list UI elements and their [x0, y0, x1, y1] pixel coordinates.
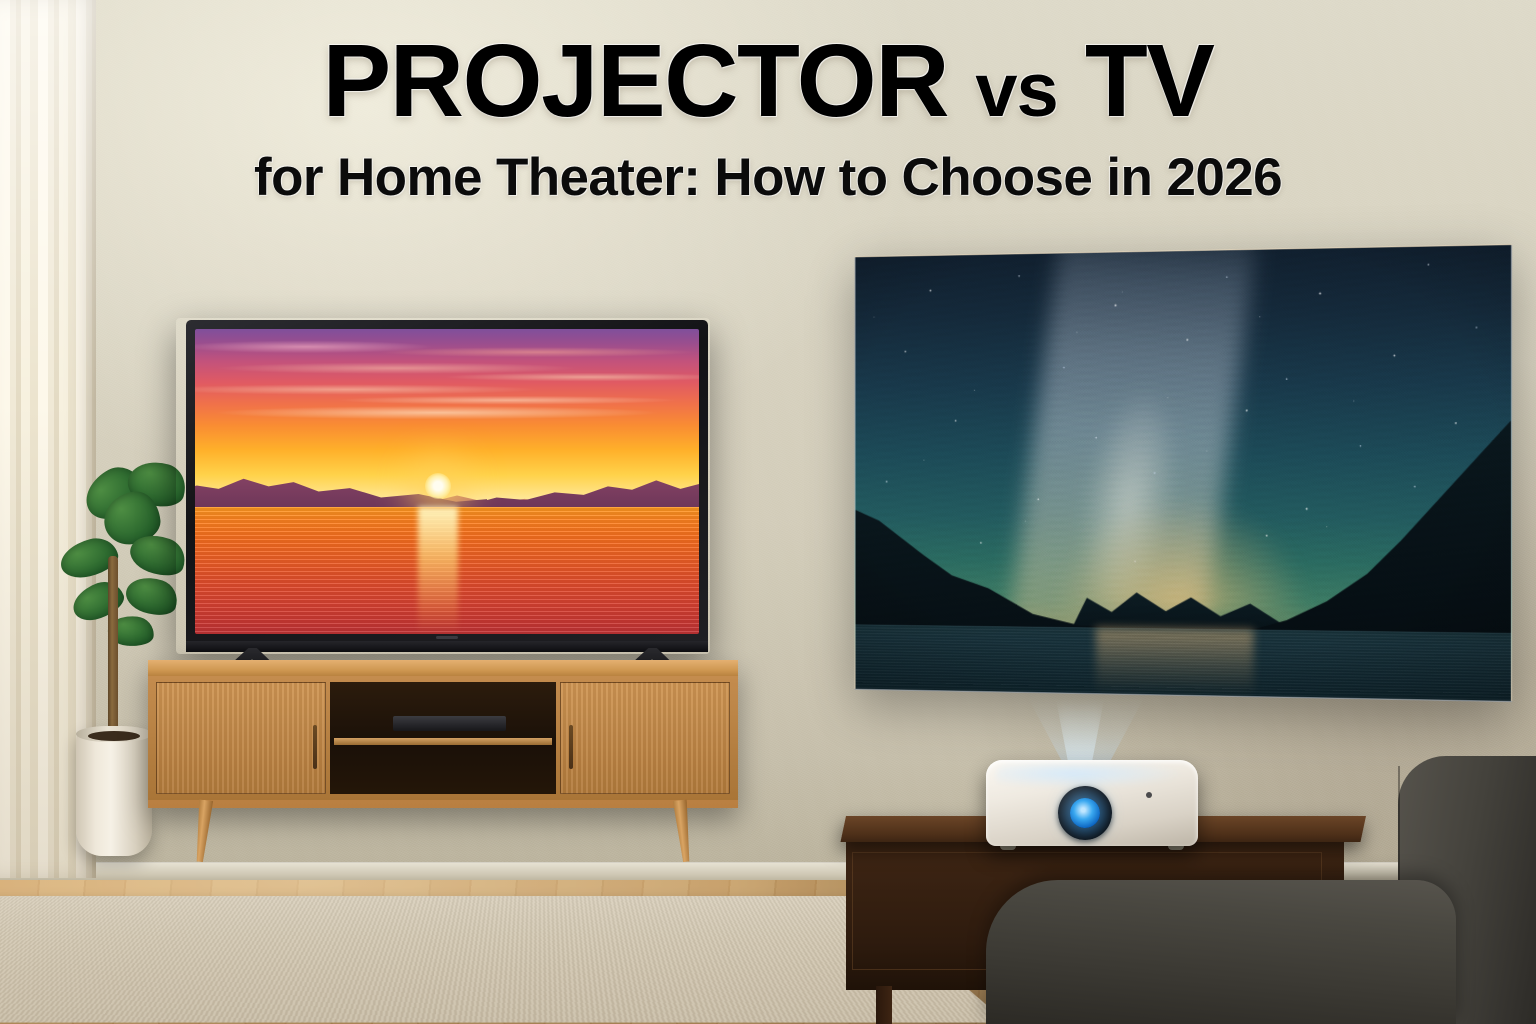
projector-top-highlight — [996, 764, 1182, 788]
page-title: PROJECTOR vs TV — [0, 28, 1536, 133]
title-vs: vs — [975, 48, 1058, 133]
console-front — [148, 676, 738, 800]
scene-root: PROJECTOR vs TV for Home Theater: How to… — [0, 0, 1536, 1024]
title-main: PROJECTOR — [322, 23, 948, 138]
door-handle-icon[interactable] — [313, 725, 317, 769]
projector-led-indicator — [1146, 792, 1152, 798]
headline-block: PROJECTOR vs TV for Home Theater: How to… — [0, 28, 1536, 208]
tv-screen — [195, 329, 699, 634]
console-door-right[interactable] — [560, 682, 730, 794]
title-tv: TV — [1085, 23, 1214, 138]
tv-bottom-bezel — [186, 641, 708, 652]
door-handle-icon[interactable] — [569, 725, 573, 769]
armchair-armrest — [986, 880, 1456, 1024]
bay-shelf — [334, 738, 552, 745]
page-subtitle: for Home Theater: How to Choose in 2026 — [0, 147, 1536, 208]
console-door-left[interactable] — [156, 682, 326, 794]
plant-soil — [88, 731, 140, 741]
projector-lens-icon — [1070, 798, 1100, 828]
projected-image — [855, 244, 1512, 702]
plant-stem — [108, 556, 118, 736]
television — [186, 320, 708, 652]
media-device — [393, 716, 506, 731]
sun-reflection-column — [418, 507, 458, 634]
projection-vignette — [855, 245, 1511, 701]
tv-brand-mark — [436, 636, 458, 639]
console-top-surface — [148, 660, 738, 676]
plant-pot — [76, 728, 152, 856]
console-open-bay — [330, 682, 556, 794]
side-table-leg-left — [876, 986, 892, 1024]
projected-screen — [855, 244, 1512, 702]
